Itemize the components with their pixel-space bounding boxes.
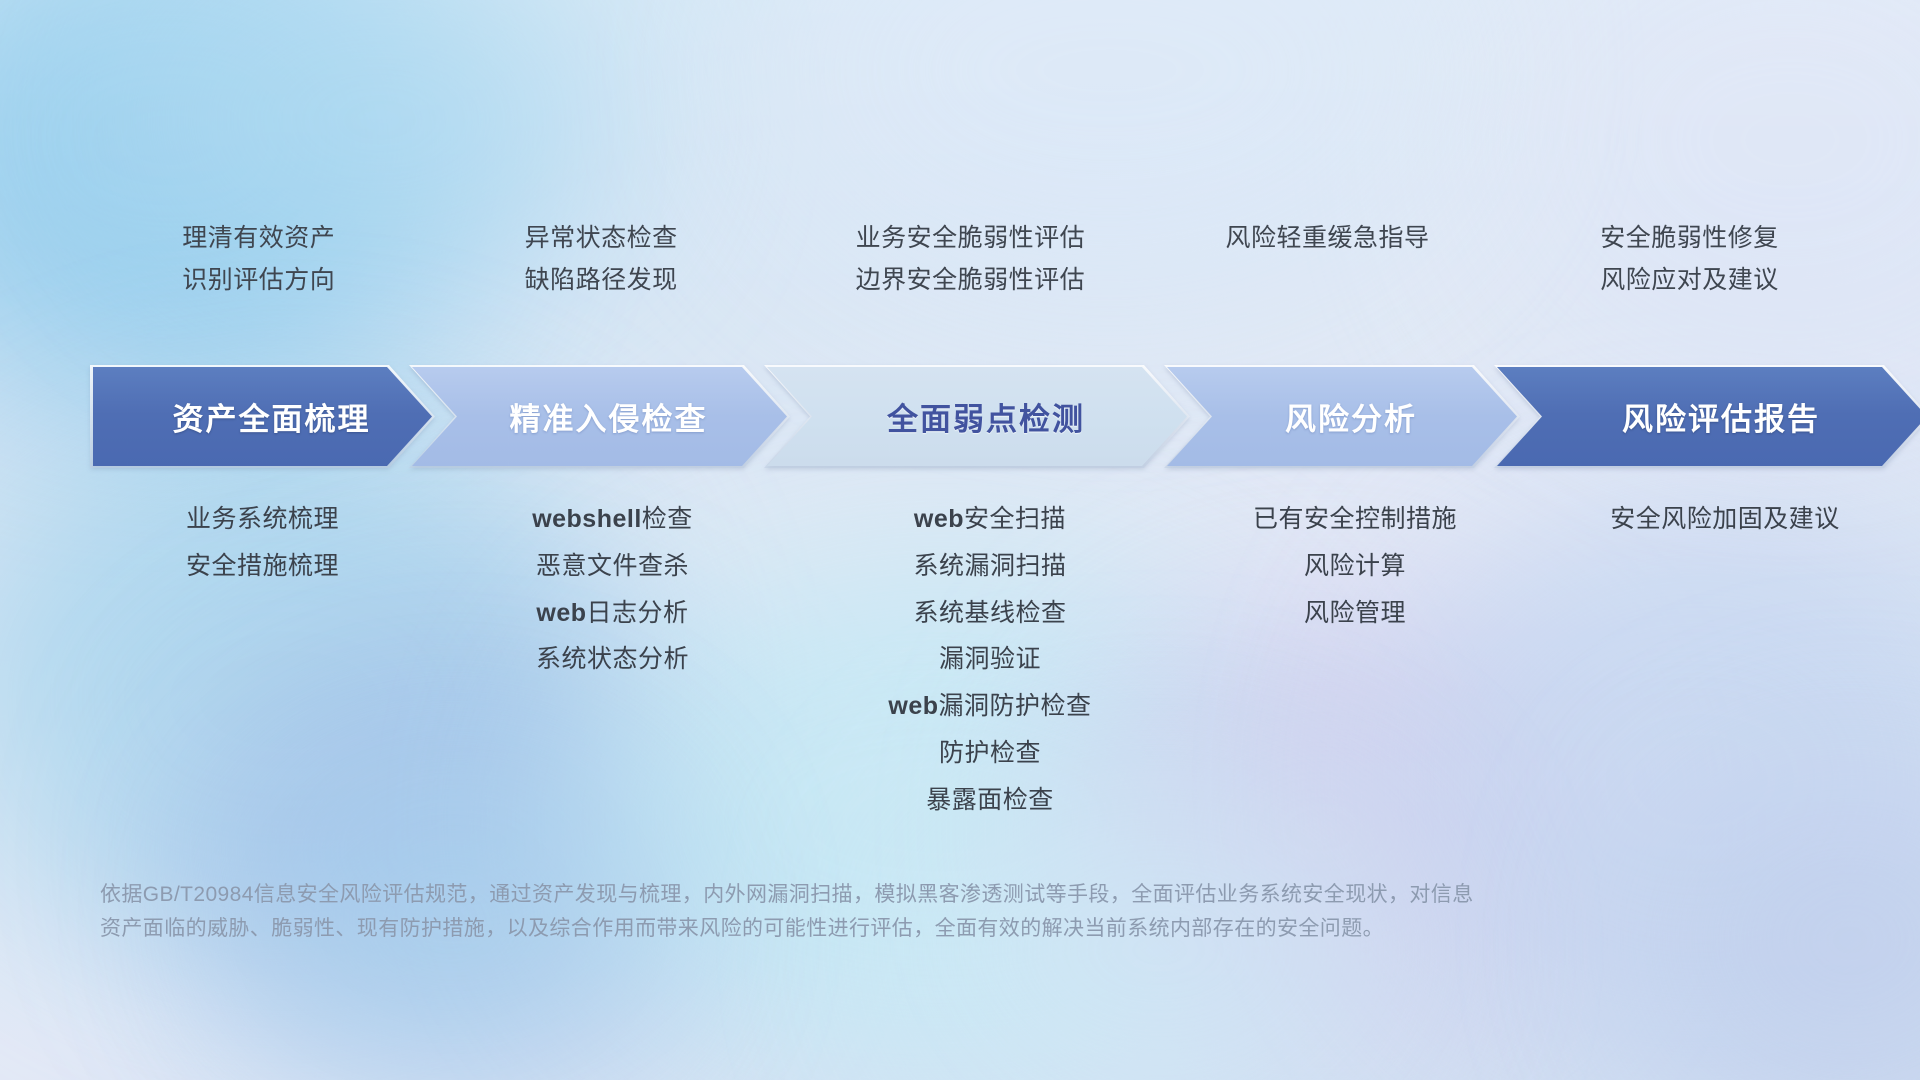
footer-line-2: 资产面临的威胁、脆弱性、现有防护措施，以及综合作用而带来风险的可能性进行评估，全… — [100, 912, 1620, 946]
top-annotation-assessment-report: 安全脆弱性修复风险应对及建议 — [1489, 225, 1890, 330]
top-annotation-risk-analysis: 风险轻重缓急指导 — [1166, 225, 1489, 330]
top-annotation-line: 安全脆弱性修复 — [1600, 225, 1779, 253]
detail-item: 业务系统梳理 — [186, 505, 339, 534]
detail-list-risk-analysis: 已有安全控制措施风险计算风险管理 — [1190, 505, 1520, 835]
stage-label-weakness-detection: 全面弱点检测 — [869, 394, 1085, 439]
stage-chevron-band: 资产全面梳理精准入侵检查全面弱点检测风险分析风险评估报告 — [90, 365, 1920, 468]
detail-item-zh: 安全扫描 — [964, 505, 1066, 533]
detail-item-zh: 安全措施梳理 — [186, 552, 339, 580]
detail-list-asset-inventory: 业务系统梳理安全措施梳理 — [90, 505, 435, 835]
process-diagram: 理清有效资产识别评估方向异常状态检查缺陷路径发现业务安全脆弱性评估边界安全脆弱性… — [0, 0, 1920, 1080]
detail-list-intrusion-check: webshell检查恶意文件查杀web日志分析系统状态分析 — [435, 505, 790, 835]
footer-line-1: 依据GB/T20984信息安全风险评估规范，通过资产发现与梳理，内外网漏洞扫描，… — [100, 878, 1620, 912]
stage-label-risk-analysis: 风险分析 — [1267, 394, 1417, 439]
stage-label-assessment-report: 风险评估报告 — [1604, 394, 1820, 439]
detail-item-zh: 漏洞验证 — [939, 645, 1041, 673]
detail-item-zh: 系统漏洞扫描 — [913, 552, 1066, 580]
detail-item-en: web — [888, 692, 938, 720]
stage-chevron-intrusion-check[interactable]: 精准入侵检查 — [409, 365, 790, 468]
stage-label-asset-inventory: 资产全面梳理 — [155, 394, 371, 439]
top-annotation-line: 风险轻重缓急指导 — [1225, 225, 1429, 253]
top-annotation-line: 边界安全脆弱性评估 — [856, 267, 1086, 295]
detail-item: 风险管理 — [1304, 599, 1406, 628]
detail-item: 系统基线检查 — [913, 599, 1066, 628]
detail-item: web漏洞防护检查 — [888, 692, 1091, 721]
detail-list-weakness-detection: web安全扫描系统漏洞扫描系统基线检查漏洞验证web漏洞防护检查防护检查暴露面检… — [790, 505, 1190, 835]
detail-item-zh: 已有安全控制措施 — [1253, 505, 1457, 533]
detail-item: web日志分析 — [536, 599, 688, 628]
detail-item-zh: 检查 — [642, 505, 693, 533]
detail-item-zh: 系统基线检查 — [913, 599, 1066, 627]
detail-item: 漏洞验证 — [939, 645, 1041, 674]
detail-item-zh: 恶意文件查杀 — [536, 552, 689, 580]
detail-item: 系统状态分析 — [536, 645, 689, 674]
detail-item-zh: 防护检查 — [939, 739, 1041, 767]
detail-item: 已有安全控制措施 — [1253, 505, 1457, 534]
bottom-details-row: 业务系统梳理安全措施梳理webshell检查恶意文件查杀web日志分析系统状态分… — [90, 505, 1920, 835]
detail-item: 系统漏洞扫描 — [913, 552, 1066, 581]
top-annotation-weakness-detection: 业务安全脆弱性评估边界安全脆弱性评估 — [775, 225, 1166, 330]
detail-item-en: web — [536, 599, 586, 627]
top-annotation-line: 缺陷路径发现 — [525, 267, 678, 295]
detail-item: web安全扫描 — [914, 505, 1066, 534]
top-annotation-line: 识别评估方向 — [182, 267, 335, 295]
detail-item-zh: 系统状态分析 — [536, 645, 689, 673]
detail-item-en: web — [914, 505, 964, 533]
detail-item-en: webshell — [532, 505, 642, 533]
detail-item: 风险计算 — [1304, 552, 1406, 581]
detail-item-zh: 风险管理 — [1304, 599, 1406, 627]
stage-label-intrusion-check: 精准入侵检查 — [492, 394, 708, 439]
top-annotation-line: 异常状态检查 — [525, 225, 678, 253]
stage-chevron-asset-inventory[interactable]: 资产全面梳理 — [90, 365, 435, 468]
top-annotation-line: 业务安全脆弱性评估 — [856, 225, 1086, 253]
detail-item-zh: 漏洞防护检查 — [939, 692, 1092, 720]
detail-item: 暴露面检查 — [926, 786, 1054, 815]
detail-item-zh: 暴露面检查 — [926, 786, 1054, 814]
detail-item-zh: 安全风险加固及建议 — [1610, 505, 1840, 533]
detail-item-zh: 业务系统梳理 — [186, 505, 339, 533]
detail-item: 安全措施梳理 — [186, 552, 339, 581]
stage-chevron-risk-analysis[interactable]: 风险分析 — [1164, 365, 1520, 468]
detail-list-assessment-report: 安全风险加固及建议 — [1520, 505, 1920, 835]
detail-item-zh: 日志分析 — [587, 599, 689, 627]
detail-item: 恶意文件查杀 — [536, 552, 689, 581]
detail-item: webshell检查 — [532, 505, 693, 534]
stage-chevron-weakness-detection[interactable]: 全面弱点检测 — [764, 365, 1190, 468]
footer-description: 依据GB/T20984信息安全风险评估规范，通过资产发现与梳理，内外网漏洞扫描，… — [100, 878, 1620, 945]
detail-item: 防护检查 — [939, 739, 1041, 768]
top-annotation-intrusion-check: 异常状态检查缺陷路径发现 — [428, 225, 775, 330]
top-annotations-row: 理清有效资产识别评估方向异常状态检查缺陷路径发现业务安全脆弱性评估边界安全脆弱性… — [90, 225, 1890, 330]
detail-item-zh: 风险计算 — [1304, 552, 1406, 580]
top-annotation-line: 理清有效资产 — [182, 225, 335, 253]
stage-chevron-assessment-report[interactable]: 风险评估报告 — [1494, 365, 1920, 468]
detail-item: 安全风险加固及建议 — [1610, 505, 1840, 534]
top-annotation-line: 风险应对及建议 — [1600, 267, 1779, 295]
top-annotation-asset-inventory: 理清有效资产识别评估方向 — [90, 225, 428, 330]
